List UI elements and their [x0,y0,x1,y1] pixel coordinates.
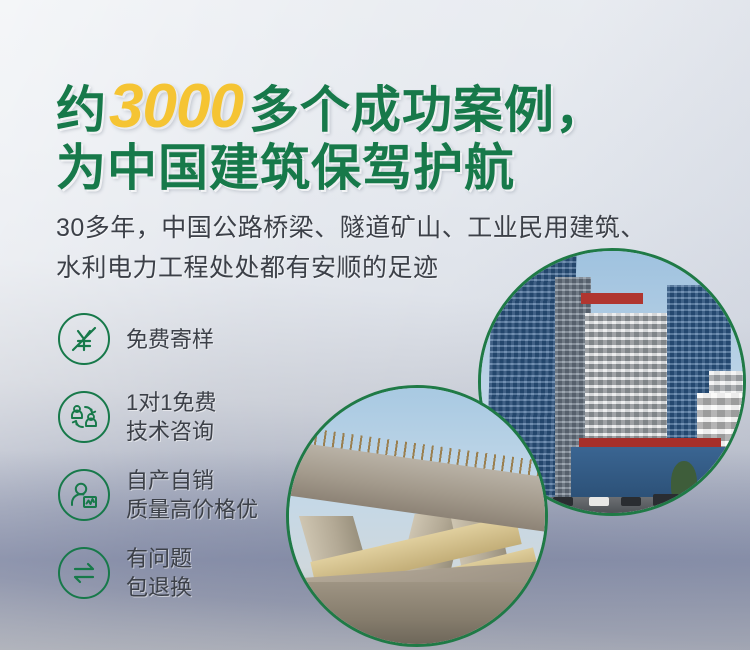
headline-suffix: 多个成功案例， [249,82,606,138]
feature-item-free-sample[interactable]: 免费寄样 [58,300,358,378]
rooftop-sign [581,293,643,304]
feature-label-line-2: 技术咨询 [126,417,216,446]
subtitle-line-1: 30多年，中国公路桥梁、隧道矿山、工业民用建筑、 [56,208,736,248]
feature-item-consulting[interactable]: 1对1免费 技术咨询 [58,378,358,456]
feature-item-return-exchange[interactable]: 有问题 包退换 [58,534,358,612]
feature-label-return-exchange: 有问题 包退换 [126,544,192,602]
car [553,497,573,506]
headline: 约3000多个成功案例， 为中国建筑保驾护航 [56,78,716,197]
self-produced-chart-icon [58,469,110,521]
feature-label-self-produced: 自产自销 质量高价格优 [126,466,258,524]
headline-line-2: 为中国建筑保驾护航 [56,139,716,197]
free-yuan-icon [58,313,110,365]
car [653,494,679,506]
headline-number: 3000 [107,72,249,141]
feature-label-free-sample: 免费寄样 [126,325,214,354]
car [621,497,641,506]
feature-label-line-2: 质量高价格优 [126,495,258,524]
feature-label-line-1: 自产自销 [126,466,258,495]
car [589,497,609,506]
feature-label-line-1: 有问题 [126,544,192,573]
headline-line-1: 约3000多个成功案例， [56,78,716,139]
feature-label-line-2: 包退换 [126,573,192,602]
feature-list: 免费寄样 1对1免费 技术咨询 [58,300,358,612]
feature-item-self-produced[interactable]: 自产自销 质量高价格优 [58,456,358,534]
promo-banner: 约3000多个成功案例， 为中国建筑保驾护航 30多年，中国公路桥梁、隧道矿山、… [0,0,750,650]
podium-entrance [571,447,731,503]
feature-label-line-1: 免费寄样 [126,325,214,354]
exchange-return-icon [58,547,110,599]
feature-label-line-1: 1对1免费 [126,388,216,417]
feature-label-consulting: 1对1免费 技术咨询 [126,388,216,446]
headline-prefix: 约 [56,82,107,138]
one-on-one-consult-icon [58,391,110,443]
